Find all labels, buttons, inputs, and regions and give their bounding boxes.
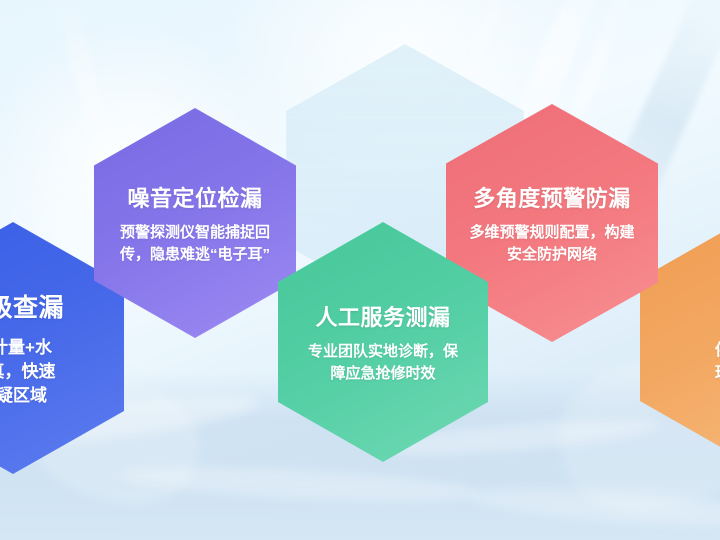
hex-card-description: 预警探测仪智能捕捉回传，隐患难逃“电子耳”: [115, 222, 275, 265]
hex-card-description: 区计量+水 仿真，快速 可疑区域: [0, 336, 97, 408]
hex-card-title: 噪音定位检漏: [127, 181, 262, 213]
infographic-canvas: 多级查漏 区计量+水 仿真，快速 可疑区域 全流 供水管网 理，漏损 多角度预警…: [0, 0, 720, 540]
hex-card-description: 多维预警规则配置，构建安全防护网络: [469, 222, 635, 265]
hex-card-zaoyin-dingwei-jianlou[interactable]: 噪音定位检漏 预警探测仪智能捕捉回传，隐患难逃“电子耳”: [94, 108, 296, 338]
hex-card-title: 多级查漏: [0, 288, 64, 324]
hex-card-title: 多角度预警防漏: [473, 181, 631, 213]
hex-card-description: 供水管网 理，漏损: [662, 340, 720, 385]
hex-card-title: 人工服务测漏: [315, 300, 450, 332]
hex-card-description: 专业团队实地诊断，保障应急抢修时效: [302, 341, 464, 384]
